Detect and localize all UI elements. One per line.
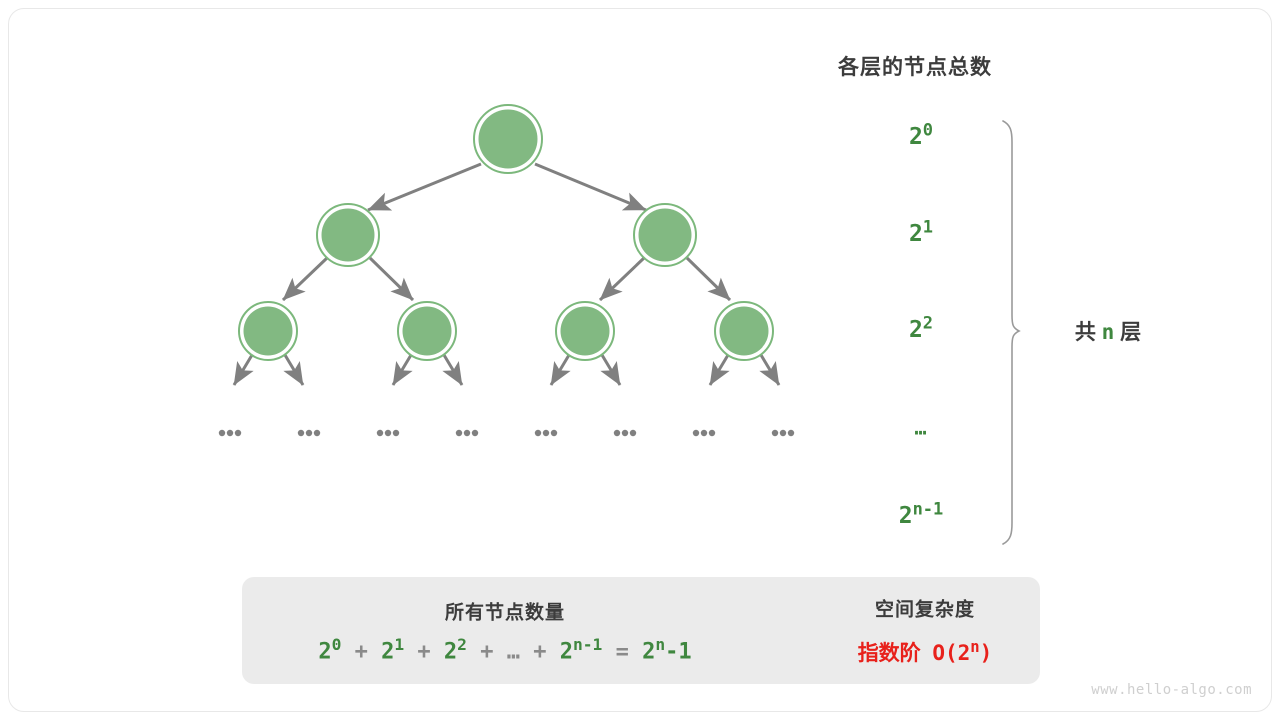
level-count-last: 2n-1	[899, 503, 944, 529]
tree-ellipsis-row	[219, 430, 794, 436]
tree-ellipsis	[535, 430, 557, 436]
levels-brace	[1003, 121, 1019, 544]
tree-nodes	[239, 105, 773, 360]
level-count-2: 22	[909, 317, 933, 343]
tree-ellipsis	[693, 430, 715, 436]
watermark: www.hello-algo.com	[1091, 682, 1252, 698]
space-complexity-heading: 空间复杂度	[875, 595, 975, 622]
total-levels-variable: n	[1102, 320, 1115, 344]
level-count-1: 21	[909, 221, 933, 247]
tree-node-l1-a	[317, 204, 379, 266]
tree-ellipsis	[614, 430, 636, 436]
tree-ellipsis	[219, 430, 241, 436]
tree-node-l2-d	[715, 302, 773, 360]
tree-node-root	[474, 105, 542, 173]
tree-node-l2-c	[556, 302, 614, 360]
space-complexity-value: 指数阶 O(2n)	[858, 637, 993, 667]
level-count-ellipsis: ⋯	[914, 420, 927, 444]
level-count-0: 20	[909, 124, 933, 150]
tree-ellipsis	[377, 430, 399, 436]
levels-column-title: 各层的节点总数	[838, 51, 992, 81]
tree-edges-level-2	[234, 355, 779, 385]
tree-edges-level-0	[368, 164, 646, 210]
diagram-canvas: 各层的节点总数 20 21 22 ⋯ 2n-1 共 n 层 所有节点数量 20 …	[0, 0, 1280, 720]
tree-ellipsis	[298, 430, 320, 436]
tree-ellipsis	[456, 430, 478, 436]
total-levels-label: 共 n 层	[1075, 316, 1141, 346]
tree-node-l1-b	[634, 204, 696, 266]
tree-ellipsis	[772, 430, 794, 436]
tree-node-l2-a	[239, 302, 297, 360]
tree-node-l2-b	[398, 302, 456, 360]
total-nodes-heading: 所有节点数量	[445, 598, 565, 625]
summary-panel	[242, 577, 1040, 684]
total-nodes-formula: 20 + 21 + 22 + … + 2n-1 = 2n-1	[318, 640, 691, 665]
tree-edges-level-1	[283, 258, 730, 300]
